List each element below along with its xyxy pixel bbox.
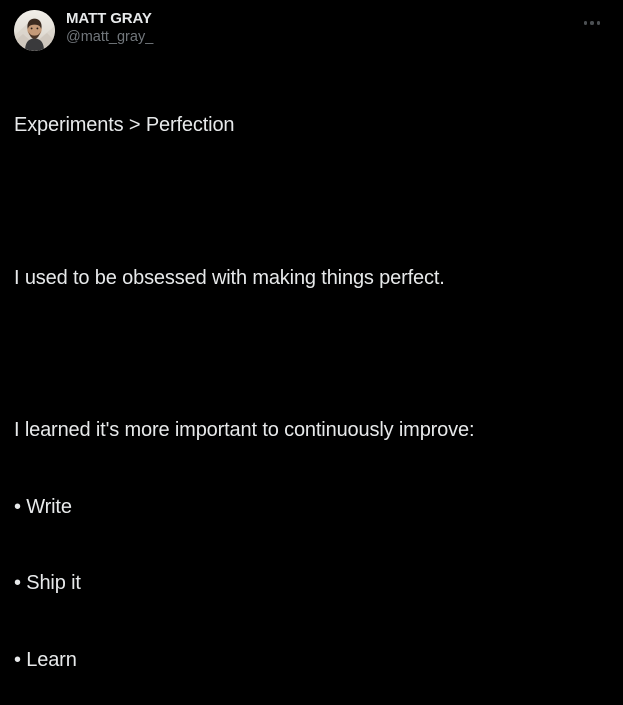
- tweet-post: MATT GRAY @matt_gray_ Experiments > Perf…: [0, 0, 623, 705]
- more-options-icon[interactable]: [575, 10, 609, 36]
- bullet-item-learn: • Learn: [14, 648, 609, 674]
- post-text-line-2: I learned it's more important to continu…: [14, 418, 609, 444]
- bullet-item-ship-it: • Ship it: [14, 571, 609, 597]
- post-text-heading: Experiments > Perfection: [14, 113, 609, 139]
- bullet-item-write: • Write: [14, 495, 609, 521]
- post-text-line-1: I used to be obsessed with making things…: [14, 266, 609, 292]
- post-header: MATT GRAY @matt_gray_: [0, 0, 623, 56]
- text-spacer: [14, 190, 609, 215]
- post-text: Experiments > Perfection I used to be ob…: [0, 56, 623, 705]
- author-display-name[interactable]: MATT GRAY: [66, 11, 153, 28]
- author-handle[interactable]: @matt_gray_: [66, 29, 153, 45]
- more-dot: [584, 21, 588, 25]
- more-dot: [597, 21, 601, 25]
- text-spacer: [14, 342, 609, 367]
- more-dot: [590, 21, 594, 25]
- avatar[interactable]: [14, 10, 55, 51]
- author-block: MATT GRAY @matt_gray_: [66, 10, 153, 45]
